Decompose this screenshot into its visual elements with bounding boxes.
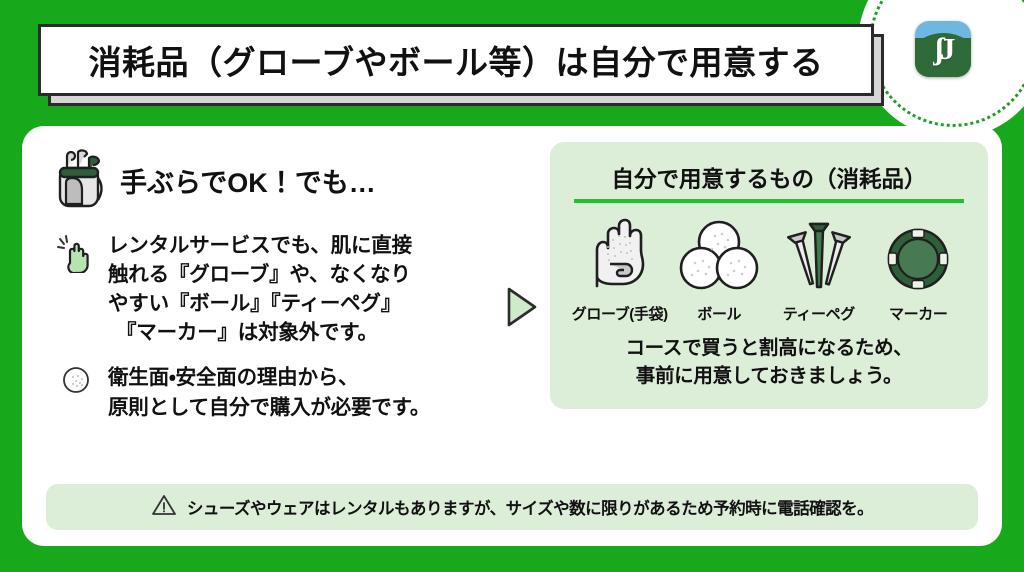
app-badge-logo: ʃJ: [915, 21, 971, 77]
bullet-text: 衛生面・安全面の理由から、 原則として自分で購入が必要です。: [108, 363, 430, 421]
bullet-line: レンタルサービスでも、肌に直接: [108, 231, 412, 260]
supplies-note-line: 事前に用意しておきましょう。: [564, 362, 974, 390]
golf-bag-icon: [54, 146, 106, 215]
right-column: 自分で用意するもの（消耗品）: [550, 142, 996, 476]
warning-triangle-icon: [151, 493, 177, 522]
list-item: ボール: [670, 219, 770, 324]
main-content-card: 手ぶらでOK！でも…: [22, 126, 1002, 546]
ball-marker-icon: [885, 226, 951, 297]
supplies-panel-title: 自分で用意するもの（消耗品）: [574, 162, 964, 203]
list-item: グローブ(手袋): [570, 219, 670, 324]
bullet-item: レンタルサービスでも、肌に直接 触れる『グローブ』や、なくなり やすい『ボール』…: [54, 231, 494, 347]
golf-balls-icon: [679, 218, 759, 297]
footer-note: シューズやウェアはレンタルもありますが、サイズや数に限りがあるため予約時に電話確…: [46, 484, 978, 530]
list-item-label: ボール: [697, 303, 741, 324]
supplies-note-line: コースで買うと割高になるため、: [564, 334, 974, 362]
list-item-label: グローブ(手袋): [572, 303, 668, 324]
logo-monogram: ʃJ: [915, 21, 971, 77]
flow-arrow: [494, 142, 550, 476]
list-item: ティーペグ: [769, 219, 869, 324]
list-item-label: ティーペグ: [783, 303, 855, 324]
title-banner-plate: 消耗品（グローブやボール等）は自分で用意する: [38, 24, 874, 96]
list-item-label: マーカー: [889, 303, 947, 324]
play-triangle-right-icon: [505, 286, 539, 333]
golf-glove-icon: [583, 214, 657, 297]
bullet-line: 原則として自分で購入が必要です。: [108, 393, 430, 422]
left-heading-text: 手ぶらでOK！でも…: [120, 161, 376, 200]
bullet-line: 『マーカー』は対象外です。: [108, 318, 412, 347]
bullet-text: レンタルサービスでも、肌に直接 触れる『グローブ』や、なくなり やすい『ボール』…: [108, 231, 412, 347]
supplies-item-list: グローブ(手袋): [564, 219, 974, 324]
bullet-line: 触れる『グローブ』や、なくなり: [108, 260, 412, 289]
bullet-line: 衛生面・安全面の理由から、: [108, 363, 430, 392]
footer-note-text: シューズやウェアはレンタルもありますが、サイズや数に限りがあるため予約時に電話確…: [187, 495, 873, 519]
supplies-panel: 自分で用意するもの（消耗品）: [550, 142, 988, 409]
bullet-item: 衛生面・安全面の理由から、 原則として自分で購入が必要です。: [54, 363, 494, 421]
supplies-panel-note: コースで買うと割高になるため、 事前に用意しておきましょう。: [564, 334, 974, 391]
golf-ball-icon: [61, 365, 91, 400]
golf-tee-pegs-icon: [781, 216, 857, 297]
left-column: 手ぶらでOK！でも…: [42, 142, 494, 476]
bullet-line: やすい『ボール』『ティーペグ』: [108, 289, 412, 318]
left-heading-row: 手ぶらでOK！でも…: [54, 146, 494, 215]
page-title: 消耗品（グローブやボール等）は自分で用意する: [88, 36, 823, 84]
list-item: マーカー: [869, 219, 969, 324]
title-banner: 消耗品（グローブやボール等）は自分で用意する: [38, 24, 874, 96]
raised-hand-icon: [56, 233, 96, 278]
